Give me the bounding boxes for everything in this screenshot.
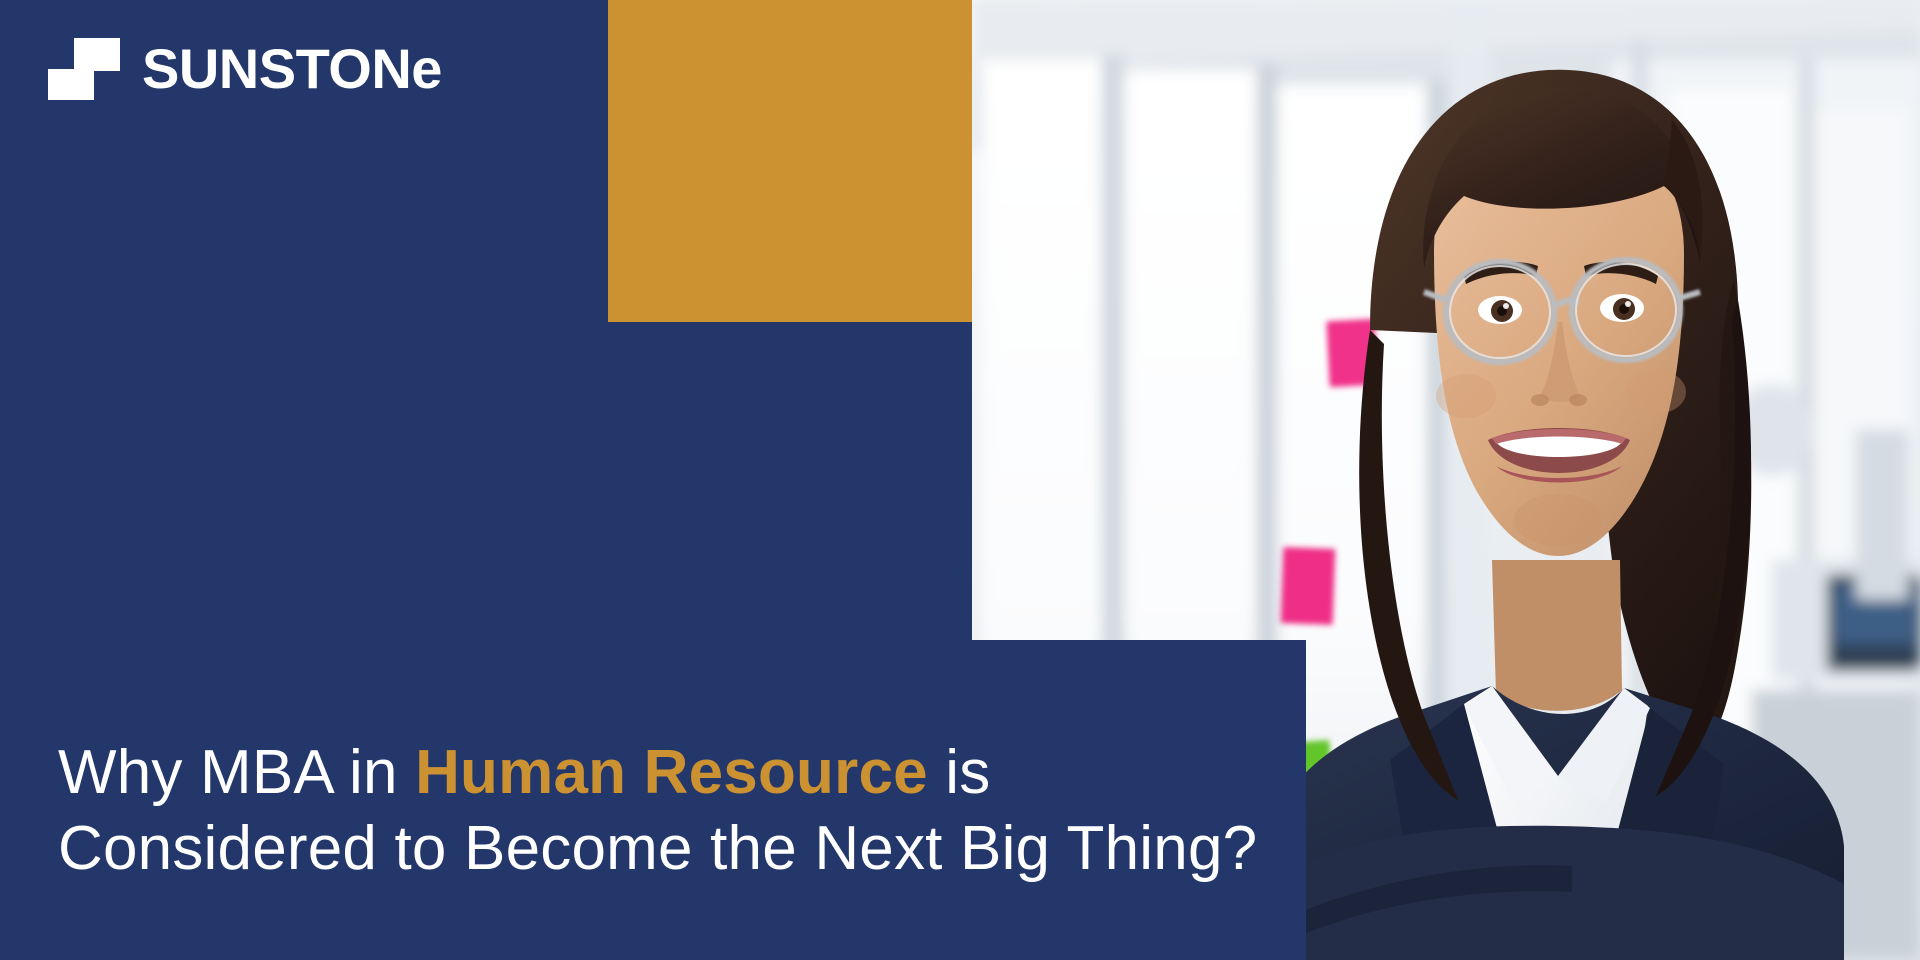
brand-logo[interactable]: SUNSTONe [48,38,442,100]
banner-canvas: SUNSTONe Why MBA in Human Resource is Co… [0,0,1920,960]
headline-pre: Why MBA in [58,738,415,807]
gold-accent-square [608,0,972,322]
headline-line-1: Why MBA in Human Resource is [58,735,1278,811]
headline-post: is [928,738,991,807]
logo-mark-lower-block [48,69,94,100]
headline-line-2: Considered to Become the Next Big Thing? [58,811,1278,887]
page-title: Why MBA in Human Resource is Considered … [58,735,1278,886]
stair-step-logo-icon [48,38,120,100]
logo-mark-upper-block [74,38,120,71]
headline-accent: Human Resource [415,738,928,807]
brand-wordmark: SUNSTONe [142,41,442,97]
